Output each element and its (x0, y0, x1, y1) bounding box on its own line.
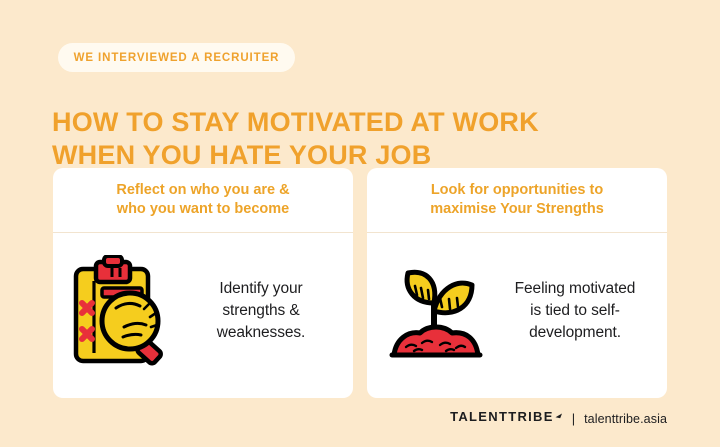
page-title-line-1: HOW TO STAY MOTIVATED AT WORK (52, 106, 652, 139)
tip-card-strengths-title-line-1: Look for opportunities to (431, 181, 603, 200)
tip-card-reflect-title-line-1: Reflect on who you are & (116, 181, 289, 200)
tip-card-strengths-text-line-1: Feeling motivated (497, 278, 653, 300)
tip-card-reflect-text-line-1: Identify your (183, 278, 339, 300)
tip-card-strengths-title-line-2: maximise Your Strengths (430, 200, 604, 219)
tip-card-reflect-header: Reflect on who you are & who you want to… (53, 168, 353, 233)
flag-mark-icon (555, 410, 563, 428)
tip-card-strengths-header: Look for opportunities to maximise Your … (367, 168, 667, 233)
infographic-page: WE INTERVIEWED A RECRUITER HOW TO STAY M… (0, 0, 720, 447)
tip-card-strengths-text-line-2: is tied to self- (497, 300, 653, 322)
clipboard-magnifier-icon (67, 256, 177, 366)
tip-card-strengths-text-line-3: development. (497, 322, 653, 344)
tip-card-strengths: Look for opportunities to maximise Your … (367, 168, 667, 398)
tip-card-reflect: Reflect on who you are & who you want to… (53, 168, 353, 398)
eyebrow-badge: WE INTERVIEWED A RECRUITER (58, 43, 295, 72)
talenttribe-logo: TALENTTRIBE (450, 409, 563, 428)
tip-card-strengths-text: Feeling motivated is tied to self- devel… (497, 278, 653, 344)
eyebrow-badge-label: WE INTERVIEWED A RECRUITER (74, 52, 280, 64)
page-title: HOW TO STAY MOTIVATED AT WORK WHEN YOU H… (52, 106, 652, 172)
footer-branding: TALENTTRIBE | talenttribe.asia (450, 409, 667, 428)
tip-card-reflect-body: Identify your strengths & weaknesses. (53, 233, 353, 398)
tips-card-list: Reflect on who you are & who you want to… (53, 168, 667, 398)
talenttribe-logo-text: TALENTTRIBE (450, 409, 554, 424)
sprout-plant-icon (381, 256, 491, 366)
tip-card-strengths-body: Feeling motivated is tied to self- devel… (367, 233, 667, 398)
tip-card-reflect-title-line-2: who you want to become (117, 200, 289, 219)
tip-card-reflect-text: Identify your strengths & weaknesses. (183, 278, 339, 344)
tip-card-reflect-text-line-3: weaknesses. (183, 322, 339, 344)
footer-website-url: talenttribe.asia (584, 412, 667, 426)
footer-divider: | (572, 412, 575, 425)
tip-card-reflect-text-line-2: strengths & (183, 300, 339, 322)
